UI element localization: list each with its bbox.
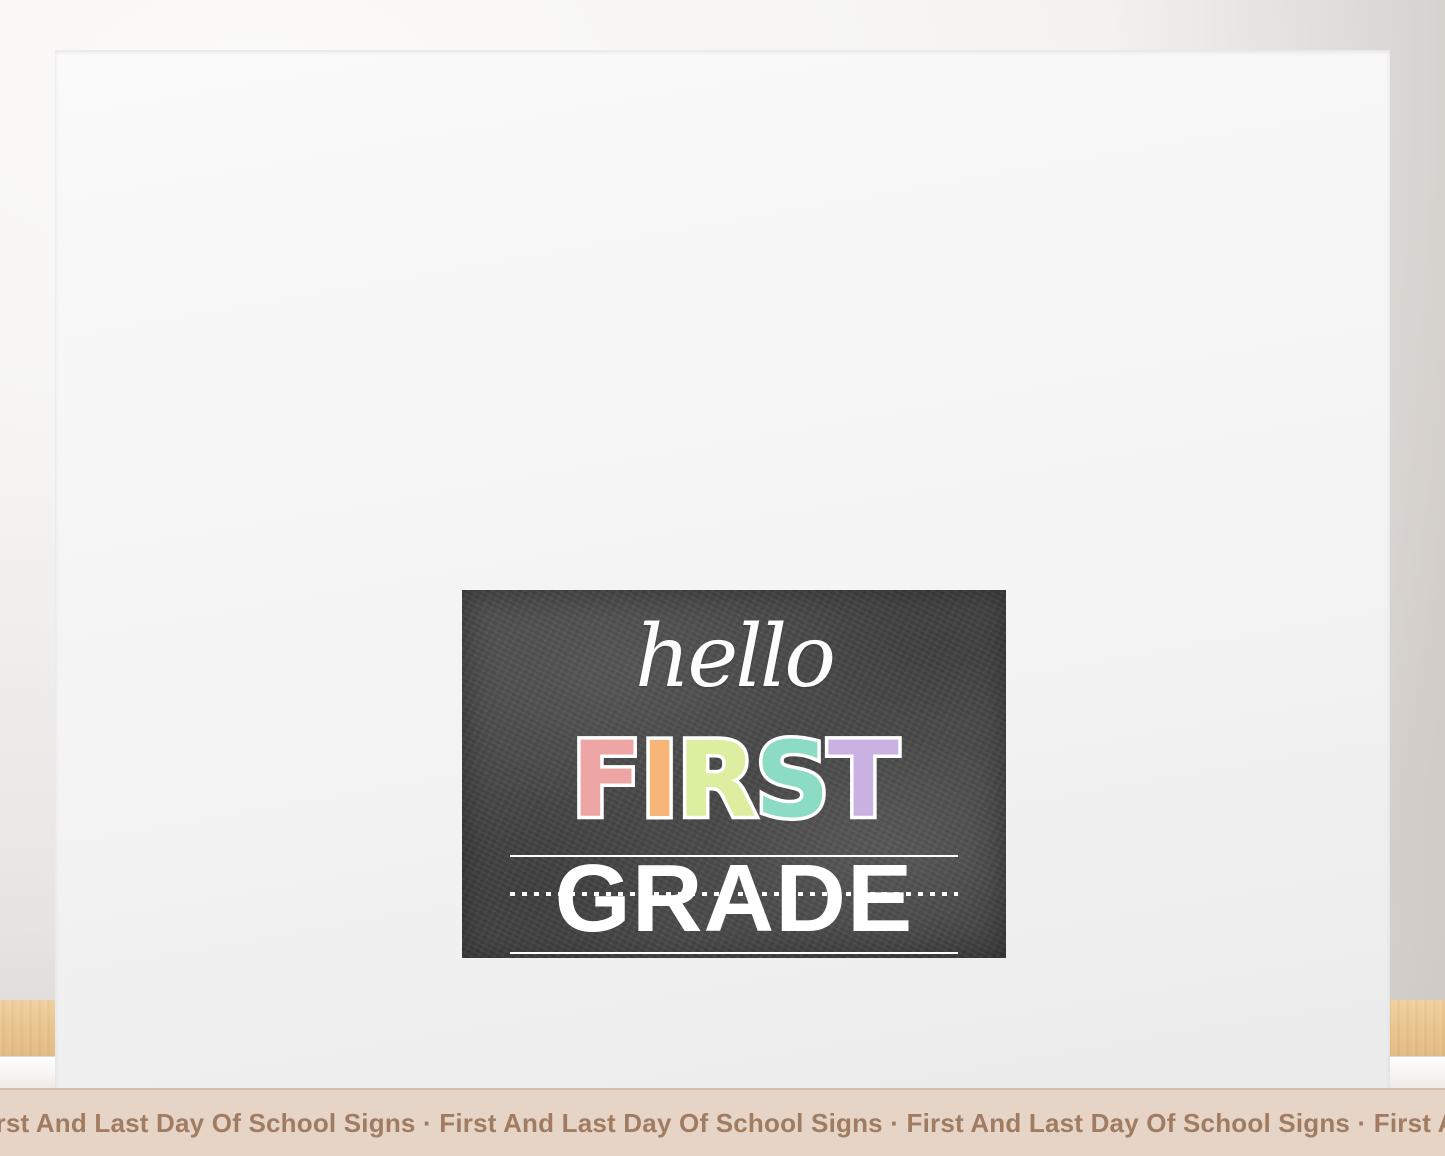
poster-letter-s-3: S [755,728,828,832]
handwriting-rule-bottom [510,952,958,954]
poster-grade-block: GRADE [492,852,976,958]
poster-grade-name: FIRST [462,728,1006,833]
poster-letter-i-1: I [640,728,677,832]
poster-letter-r-2: R [677,728,755,832]
poster-grade-word: GRADE [487,850,981,948]
banner-repeating-text: First And Last Day Of School Signs · Fir… [0,1108,1445,1139]
poster-greeting: hello [462,614,1006,700]
poster-letter-t-4: T [828,728,897,832]
poster-letter-f-0: F [571,728,640,832]
chalkboard-artwork: hello FIRST GRADE [462,590,1006,958]
product-listing-image: How To Use This Product 1 Buy, Download … [0,0,1445,1156]
bottom-marquee-banner: First And Last Day Of School Signs · Fir… [0,1088,1445,1156]
